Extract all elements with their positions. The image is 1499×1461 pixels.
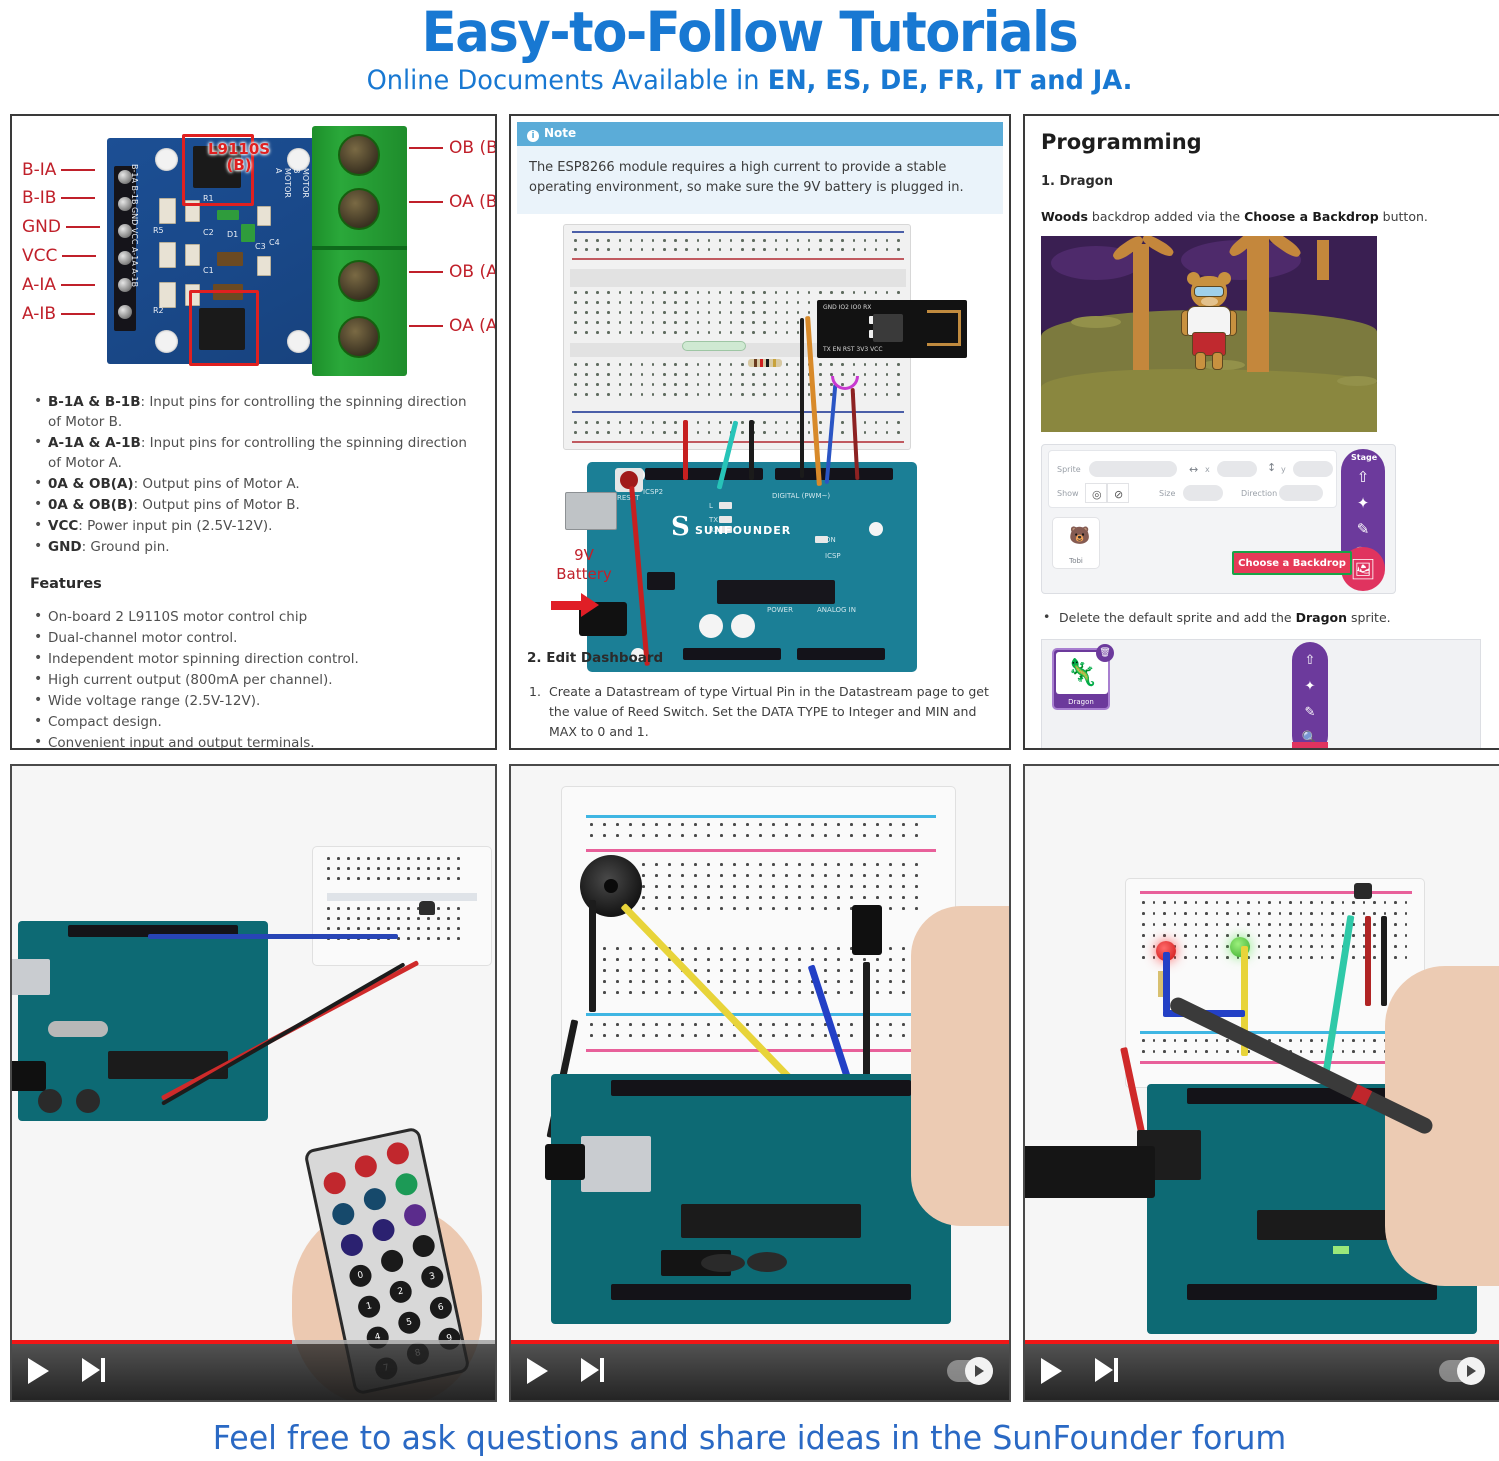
full-breadboard xyxy=(561,786,956,1076)
stage-label: Stage xyxy=(1351,453,1377,462)
page-title: Easy-to-Follow Tutorials xyxy=(52,2,1446,62)
hand xyxy=(911,906,1011,1226)
panel-programming: Programming 1. Dragon Woods backdrop add… xyxy=(1023,114,1499,750)
list-item: GND: Ground pin. xyxy=(28,537,479,557)
page-header: Easy-to-Follow Tutorials Online Document… xyxy=(0,0,1499,98)
paint-icon[interactable]: ✎ xyxy=(1353,519,1373,539)
scratch-sprite-panel: Sprite ↔ x ↕ y Show ◎ ⊘ Size Direction xyxy=(1041,444,1396,594)
wire-blue-photo xyxy=(1163,952,1170,1012)
woods-bold: Woods xyxy=(1041,209,1088,224)
list-item: 0A & OB(B): Output pins of Motor B. xyxy=(28,495,479,515)
list-item: 0A & OB(A): Output pins of Motor A. xyxy=(28,474,479,494)
list-item: B-1A & B-1B: Input pins for controlling … xyxy=(28,392,479,432)
progress-bar[interactable] xyxy=(1025,1340,1499,1344)
video-controls-2 xyxy=(511,1340,1009,1400)
upload-icon[interactable]: ⇧ xyxy=(1353,467,1373,487)
pin-callout-ob-a: OB (A) xyxy=(404,262,495,282)
size-input[interactable] xyxy=(1183,485,1223,501)
autoplay-toggle[interactable] xyxy=(947,1360,993,1382)
wire-black-photo-3 xyxy=(863,962,870,1092)
ir-receiver xyxy=(1354,883,1372,899)
pin-callout-ob-b: OB (B) xyxy=(404,138,495,158)
mount-hole xyxy=(287,330,310,353)
backdrop-sentence: Woods backdrop added via the Choose a Ba… xyxy=(1041,209,1485,224)
sprite-thumbnail-tobi[interactable]: 🐻 Tobi xyxy=(1052,517,1100,569)
mini-breadboard xyxy=(312,846,492,966)
sprite-label: Sprite xyxy=(1057,465,1081,474)
x-input[interactable] xyxy=(1217,461,1257,477)
goggles-icon xyxy=(1194,286,1224,297)
pcb-antenna xyxy=(927,310,961,346)
list-item: A-1A & A-1B: Input pins for controlling … xyxy=(28,433,479,473)
subtitle-prefix: Online Documents Available in xyxy=(367,65,768,96)
choose-backdrop-bold: Choose a Backdrop xyxy=(1244,209,1379,224)
features-heading: Features xyxy=(30,576,479,592)
list-item: VCC: Power input pin (2.5V-12V). xyxy=(28,516,479,536)
wire-red xyxy=(683,420,688,480)
paint-icon[interactable]: ✎ xyxy=(1301,704,1319,722)
ir-receiver xyxy=(419,901,435,915)
photo-led-breadboard-demo xyxy=(1023,764,1499,1402)
content-grid: B-IA B-IB GND VCC A-IA A-IB B-1A B-1B GN… xyxy=(10,114,1489,1402)
note-header: iNote xyxy=(517,122,1003,146)
features-list: On-board 2 L9110S motor control chip Dua… xyxy=(28,607,479,750)
pin-callout-vcc: VCC xyxy=(22,246,101,266)
eye-visible-icon[interactable]: ◎ xyxy=(1085,483,1107,503)
wire-black-photo xyxy=(1381,916,1387,1006)
subtitle-languages: EN, ES, DE, FR, IT and JA. xyxy=(768,65,1133,96)
play-icon[interactable] xyxy=(1041,1358,1062,1384)
x-label: x xyxy=(1205,465,1210,474)
note-label: Note xyxy=(544,126,576,140)
show-label: Show xyxy=(1057,489,1079,498)
usb-cable-plug xyxy=(1023,1146,1155,1198)
push-button[interactable] xyxy=(852,905,882,955)
list-item: Dual-channel motor control. xyxy=(28,628,479,648)
photo-buzzer-button-demo xyxy=(509,764,1011,1402)
screw-terminal-block xyxy=(312,126,407,376)
step-title: 1. Dragon xyxy=(1041,174,1485,189)
sprite-tool-rail: ⇧ ✦ ✎ 🔍 xyxy=(1292,642,1328,750)
pin-callout-oa-b: OA (B) xyxy=(404,192,495,212)
sprite-thumbnail-label: Tobi xyxy=(1053,557,1099,565)
sprite-thumbnail-label: Dragon xyxy=(1054,698,1108,706)
programming-heading: Programming xyxy=(1041,130,1485,154)
video-controls-1 xyxy=(12,1340,495,1400)
pin-callout-b-ia: B-IA xyxy=(22,160,100,180)
direction-input[interactable] xyxy=(1279,485,1323,501)
surprise-icon[interactable]: ✦ xyxy=(1301,678,1319,696)
chip-label-b: L9110S (B) xyxy=(208,141,270,173)
pin-description-list: B-1A & B-1B: Input pins for controlling … xyxy=(28,392,479,557)
list-item: Convenient input and output terminals. xyxy=(28,733,479,750)
edit-dashboard-heading: 2. Edit Dashboard xyxy=(527,650,993,666)
eye-hidden-icon[interactable]: ⊘ xyxy=(1107,483,1129,503)
list-item: Wide voltage range (2.5V-12V). xyxy=(28,691,479,711)
y-label: y xyxy=(1281,465,1286,474)
tobi-sprite xyxy=(1183,276,1235,370)
hand xyxy=(1385,966,1499,1286)
arduino-board-photo xyxy=(551,1074,951,1324)
mount-hole xyxy=(155,330,178,353)
list-item: Compact design. xyxy=(28,712,479,732)
sunfounder-logo-icon: S xyxy=(671,514,697,540)
motor-driver-board-image: B-IA B-IB GND VCC A-IA A-IB B-1A B-1B GN… xyxy=(12,116,495,378)
edit-dashboard-steps: Create a Datastream of type Virtual Pin … xyxy=(527,682,993,742)
fritzing-wiring-diagram: GND IO2 IO0 RX TX EN RST 3V3 VCC xyxy=(545,224,975,676)
y-input[interactable] xyxy=(1293,461,1333,477)
play-icon[interactable] xyxy=(527,1358,548,1384)
motor-driver-text: B-1A & B-1B: Input pins for controlling … xyxy=(12,378,495,750)
page-subtitle: Online Documents Available in EN, ES, DE… xyxy=(37,64,1461,98)
sprite-name-input[interactable] xyxy=(1089,461,1177,477)
wire-black-2 xyxy=(800,318,804,478)
pin-callout-a-ia: A-IA xyxy=(22,275,100,295)
panel-wiring-guide: iNote The ESP8266 module requires a high… xyxy=(509,114,1011,750)
pin-callout-oa-a: OA (A) xyxy=(404,316,495,336)
autoplay-toggle[interactable] xyxy=(1439,1360,1485,1382)
list-item: Create a Datastream of type Virtual Pin … xyxy=(527,682,993,742)
esp-shield-can xyxy=(873,314,903,342)
reed-switch xyxy=(682,341,746,351)
sprite-thumbnail-dragon[interactable]: 🦎 Dragon 🗑 xyxy=(1052,648,1110,710)
height-arrow-icon: ↕ xyxy=(1267,461,1276,474)
panel-motor-driver: B-IA B-IB GND VCC A-IA A-IB B-1A B-1B GN… xyxy=(10,114,497,750)
resistor xyxy=(748,359,782,367)
highlight-box-chip-a xyxy=(189,290,259,366)
trash-icon[interactable]: 🗑 xyxy=(1096,644,1114,662)
width-arrow-icon: ↔ xyxy=(1189,463,1198,476)
list-item: High current output (800mA per channel). xyxy=(28,670,479,690)
usb-connector xyxy=(565,492,617,530)
microcontroller xyxy=(717,580,835,604)
edit-dashboard-section: 2. Edit Dashboard Create a Datastream of… xyxy=(511,650,1009,742)
progress-bar[interactable] xyxy=(511,1340,1009,1344)
battery-callout: 9V Battery xyxy=(549,546,619,584)
list-item: Independent motor spinning direction con… xyxy=(28,649,479,669)
progress-bar[interactable] xyxy=(12,1340,495,1344)
pin-callout-a-ib: A-IB xyxy=(22,304,100,324)
play-icon[interactable] xyxy=(28,1358,49,1384)
pin-callout-b-ib: B-IB xyxy=(22,188,100,208)
video-controls-3 xyxy=(1025,1340,1499,1400)
wire-darkred-photo xyxy=(1365,916,1371,1006)
note-body: The ESP8266 module requires a high curre… xyxy=(517,146,1003,214)
image-add-icon[interactable] xyxy=(1292,742,1328,750)
delete-sprite-bullet: •Delete the default sprite and add the D… xyxy=(1041,610,1485,625)
scratch-dragon-panel: 🦎 Dragon 🗑 ⇧ ✦ ✎ 🔍 xyxy=(1041,639,1481,750)
choose-a-backdrop-button[interactable]: Choose a Backdrop xyxy=(1232,551,1352,575)
board-brand-label: SUNFOUNDER xyxy=(695,524,791,537)
mount-hole xyxy=(155,148,178,171)
size-label: Size xyxy=(1159,489,1175,498)
wire-black xyxy=(749,420,754,480)
surprise-icon[interactable]: ✦ xyxy=(1353,493,1373,513)
arduino-board-photo xyxy=(18,921,268,1121)
wire-black-photo xyxy=(589,900,596,1012)
scratch-stage-preview xyxy=(1041,236,1377,432)
info-icon: i xyxy=(527,130,539,142)
sprite-properties: Sprite ↔ x ↕ y Show ◎ ⊘ Size Direction xyxy=(1048,450,1337,508)
wire-blue-photo xyxy=(148,934,398,939)
page-footer: Feel free to ask questions and share ide… xyxy=(30,1418,1469,1457)
upload-icon[interactable]: ⇧ xyxy=(1301,652,1319,670)
photo-ir-receiver-demo: 0 1 2 3 4 5 6 7 8 9 xyxy=(10,764,497,1402)
direction-label: Direction xyxy=(1241,489,1277,498)
pin-callout-gnd: GND xyxy=(22,217,105,237)
note-callout: iNote The ESP8266 module requires a high… xyxy=(517,122,1003,214)
list-item: On-board 2 L9110S motor control chip xyxy=(28,607,479,627)
esp8266-module: GND IO2 IO0 RX TX EN RST 3V3 VCC xyxy=(817,300,967,358)
